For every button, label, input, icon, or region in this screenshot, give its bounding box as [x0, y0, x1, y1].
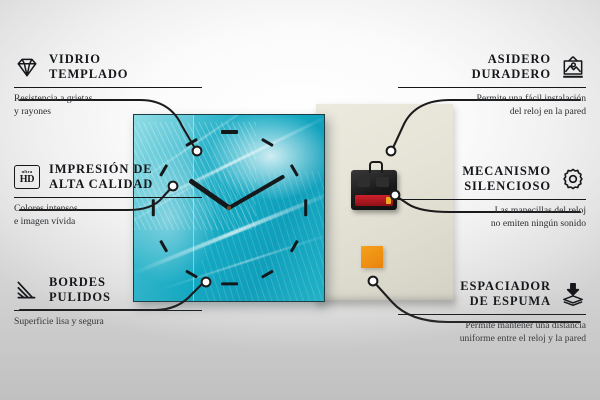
gear-icon [560, 166, 586, 192]
feature-description-line: Las manecillas del reloj [398, 205, 586, 217]
feature-title-line: IMPRESIÓN DE [49, 162, 153, 177]
ultra-hd-icon-large-text: HD [20, 175, 35, 185]
feature-title-line: ESPACIADOR [460, 279, 551, 294]
feature-title-line: PULIDOS [49, 290, 111, 305]
feature-title-line: DURADERO [472, 67, 551, 82]
feature-divider [398, 199, 586, 201]
feature-description-line: y rayones [14, 106, 202, 118]
feature-description-line: Colores intensos [14, 203, 202, 215]
feature-divider [398, 314, 586, 316]
feature-asidero-duradero[interactable]: ASIDERO DURADERO Permite una fácil insta… [398, 52, 586, 118]
connector-dot-foam [369, 277, 378, 286]
infographic-canvas: VIDRIO TEMPLADO Resistencia a grietas y … [0, 0, 600, 400]
feature-title-line: ASIDERO [472, 52, 551, 67]
feature-title-line: DE ESPUMA [460, 294, 551, 309]
feature-divider [14, 197, 202, 199]
feature-divider [14, 87, 202, 89]
feature-divider [398, 87, 586, 89]
feature-divider [14, 310, 202, 312]
ultra-hd-icon: ultra HD [14, 164, 40, 190]
feature-description-line: uniforme entre el reloj y la pared [398, 333, 586, 345]
feature-impresion-alta-calidad[interactable]: ultra HD IMPRESIÓN DE ALTA CALIDAD Color… [14, 162, 202, 228]
feature-title-line: TEMPLADO [49, 67, 128, 82]
feature-mecanismo-silencioso[interactable]: MECANISMO SILENCIOSO Las manecillas del … [398, 164, 586, 230]
feature-vidrio-templado[interactable]: VIDRIO TEMPLADO Resistencia a grietas y … [14, 52, 202, 118]
feature-bordes-pulidos[interactable]: BORDES PULIDOS Superficie lisa y segura [14, 275, 202, 329]
diamond-icon [14, 54, 40, 80]
feature-description-line: del reloj en la pared [398, 106, 586, 118]
polished-edges-icon [14, 277, 40, 303]
feature-title-line: ALTA CALIDAD [49, 177, 153, 192]
feature-description-line: Superficie lisa y segura [14, 316, 202, 328]
feature-description-line: Permite una fácil instalación [398, 93, 586, 105]
feature-title-line: SILENCIOSO [462, 179, 551, 194]
foam-spacer-icon [560, 281, 586, 307]
feature-title-line: MECANISMO [462, 164, 551, 179]
connector-dot-clock-face [193, 147, 202, 156]
feature-title-line: VIDRIO [49, 52, 128, 67]
picture-frame-hanger-icon [560, 54, 586, 80]
feature-description-line: Permite mantener una distancia [398, 320, 586, 332]
feature-description-line: no emiten ningún sonido [398, 218, 586, 230]
feature-espaciador-de-espuma[interactable]: ESPACIADOR DE ESPUMA Permite mantener un… [398, 279, 586, 345]
connector-dot-hanger [387, 147, 396, 156]
feature-description-line: e imagen vívida [14, 216, 202, 228]
feature-title-line: BORDES [49, 275, 111, 290]
feature-description-line: Resistencia a grietas [14, 93, 202, 105]
connector-dot-edge [202, 278, 211, 287]
